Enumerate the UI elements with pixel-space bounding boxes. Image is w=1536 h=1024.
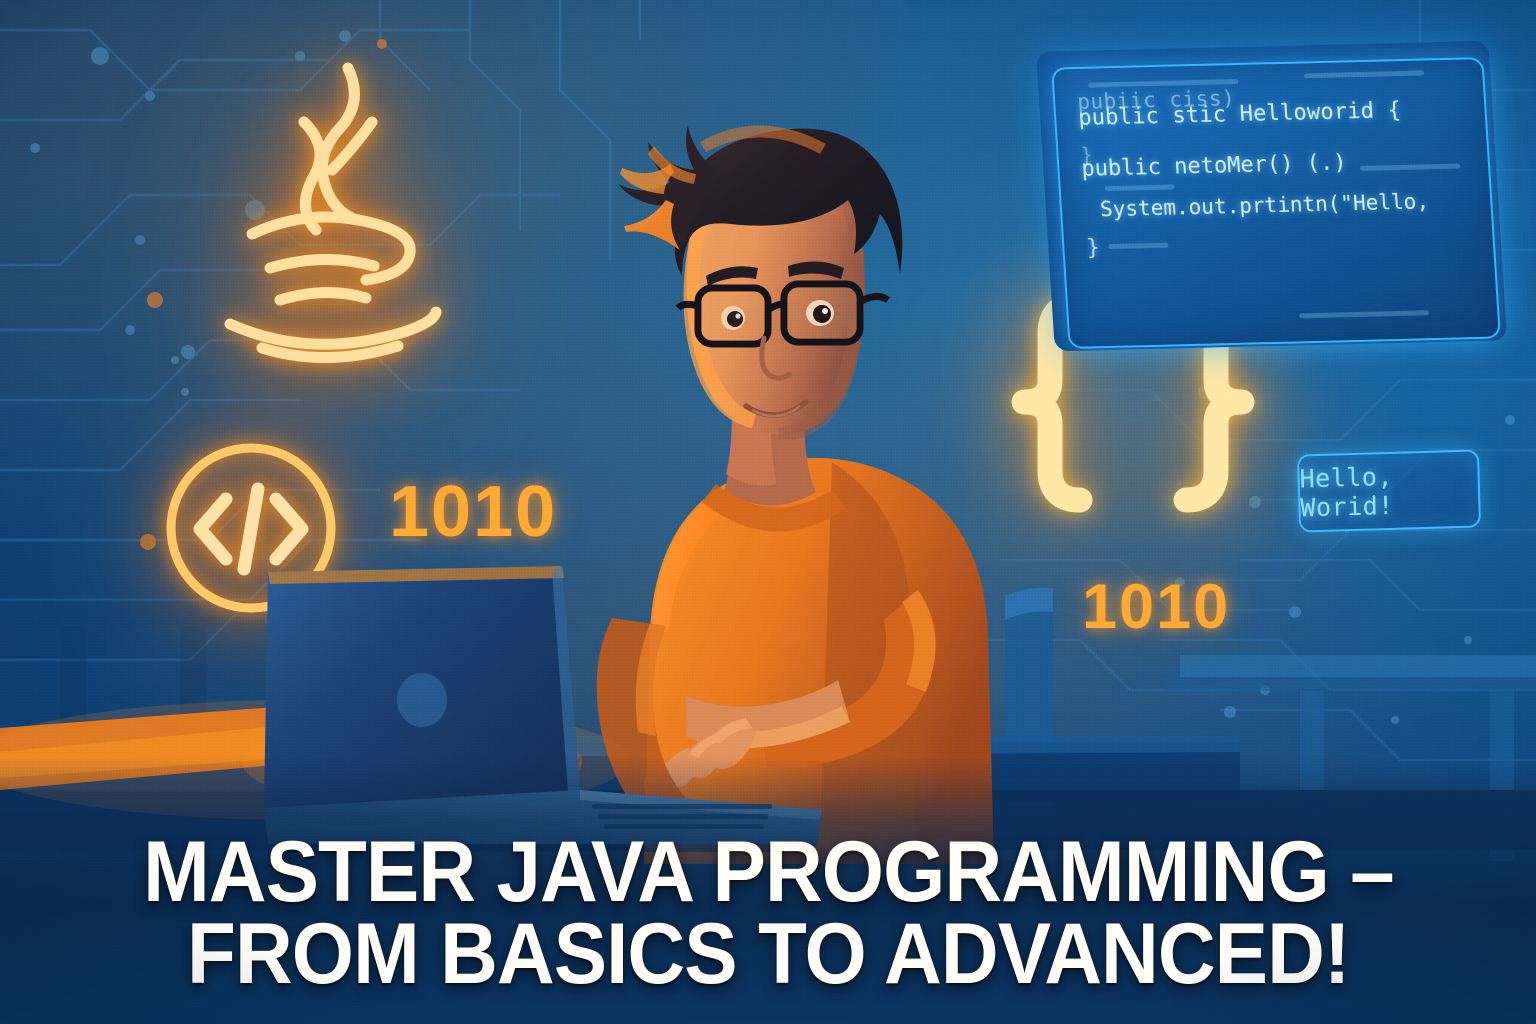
java-logo [196, 56, 448, 376]
code-screen: pubiic ciss) public stic Helloworid { } … [1051, 57, 1501, 349]
hello-world-label: Hello, Worid! [1299, 460, 1479, 523]
binary-text-right: 1010 [1082, 571, 1230, 643]
title-line-1: MASTER JAVA PROGRAMMING – [143, 824, 1394, 920]
code-line-6: } [1086, 227, 1486, 260]
code-text-block: pubiic ciss) public stic Helloworid { } … [1077, 81, 1486, 260]
title-line-2: FROM BASICS TO ADVANCED! [143, 913, 1394, 996]
poster-root: pubiic ciss) public stic Helloworid { } … [0, 0, 1536, 1024]
hello-world-badge: Hello, Worid! [1297, 449, 1481, 532]
code-screen-panel: pubiic ciss) public stic Helloworid { } … [1051, 57, 1501, 349]
title-band: MASTER JAVA PROGRAMMING – FROM BASICS TO… [0, 756, 1536, 1024]
code-line-5: System.out.prtintn("Hello, [1083, 189, 1483, 221]
page-title: MASTER JAVA PROGRAMMING – FROM BASICS TO… [143, 831, 1394, 996]
